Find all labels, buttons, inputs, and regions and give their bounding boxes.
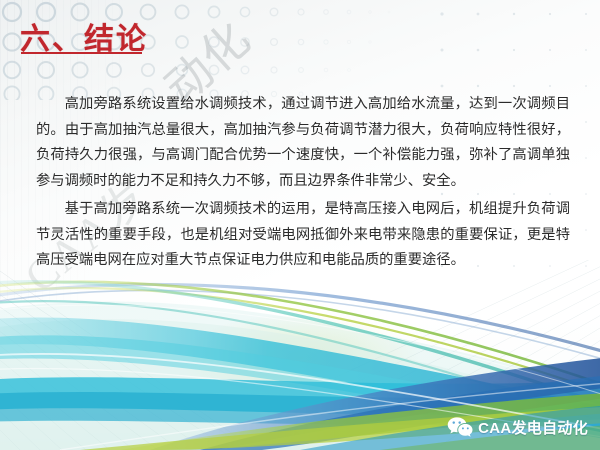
slide-canvas: 动化 CAA发 六、结论 高加旁路系统设置给水调频技术，通过调节进入高加给水流量…	[0, 0, 600, 450]
paragraph-1: 高加旁路系统设置给水调频技术，通过调节进入高加给水流量，达到一次调频目的。由于高…	[36, 92, 570, 194]
body-text: 高加旁路系统设置给水调频技术，通过调节进入高加给水流量，达到一次调频目的。由于高…	[36, 92, 570, 274]
title-underline	[21, 52, 142, 54]
wechat-account-name: CAA发电自动化	[478, 417, 588, 438]
paragraph-2: 基于高加旁路系统一次调频技术的运用，是特高压接入电网后，机组提升负荷调节灵活性的…	[36, 197, 570, 274]
wechat-account-logo: CAA发电自动化	[447, 416, 588, 438]
wechat-icon	[447, 416, 473, 438]
